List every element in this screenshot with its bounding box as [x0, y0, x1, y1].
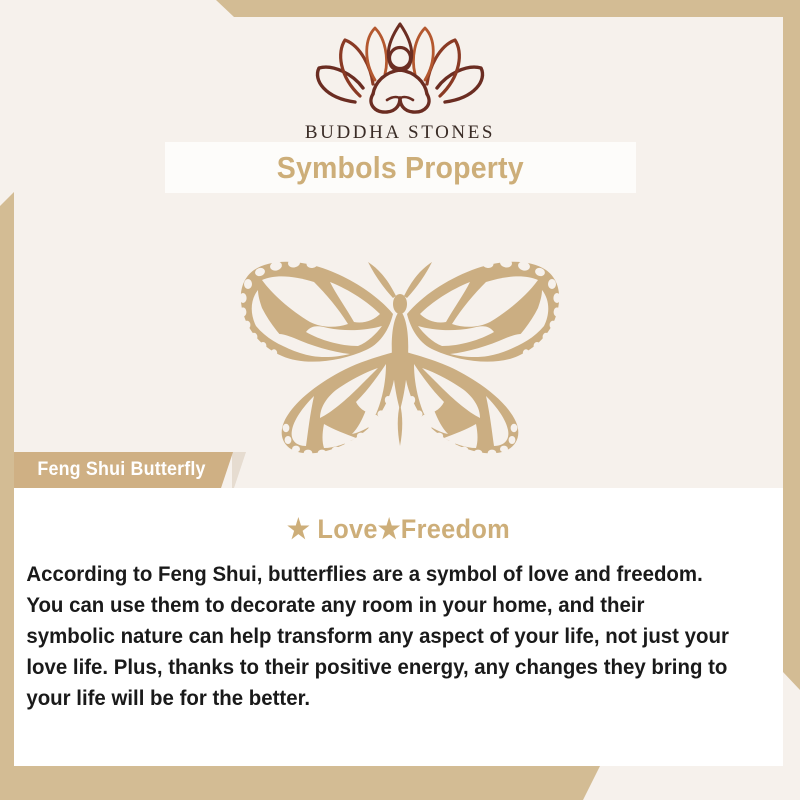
brand-wordmark: BUDDHA STONES — [0, 122, 800, 144]
frame-strip-bottom — [0, 766, 800, 800]
title-banner: Symbols Property — [165, 142, 636, 193]
feng-shui-tag-label: Feng Shui Butterfly — [37, 459, 205, 481]
butterfly-icon — [228, 232, 572, 472]
tagline: ★ Love★Freedom — [37, 514, 760, 545]
lotus-meditation-figure-icon — [305, 18, 495, 118]
butterfly-illustration — [228, 232, 572, 472]
brand-logo-block: BUDDHA STONES — [0, 18, 800, 144]
body-paragraph: According to Feng Shui, butterflies are … — [14, 559, 745, 714]
content-panel: ★ Love★Freedom According to Feng Shui, b… — [14, 488, 783, 766]
feng-shui-tag: Feng Shui Butterfly — [14, 452, 233, 488]
frame-strip-top — [0, 0, 800, 17]
frame-strip-left — [0, 192, 14, 800]
poster-root: BUDDHA STONES Symbols Property — [0, 0, 800, 800]
page-title: Symbols Property — [277, 150, 524, 186]
